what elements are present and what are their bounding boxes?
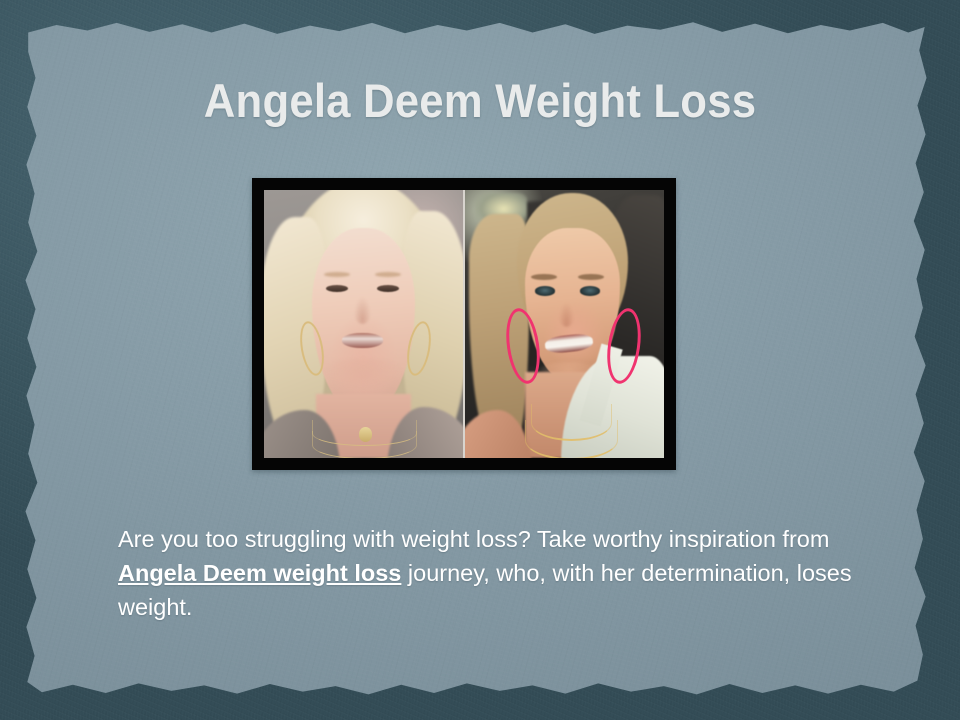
presentation-slide: Angela Deem Weight Loss [0, 0, 960, 720]
after-eye-right [580, 286, 600, 295]
photo-frame [252, 178, 676, 470]
slide-content: Angela Deem Weight Loss [0, 0, 960, 720]
before-photo [264, 190, 463, 458]
body-highlight-keyword: Angela Deem weight loss [118, 560, 401, 586]
after-eye-left [535, 286, 555, 295]
after-nose [559, 303, 575, 327]
before-eyebrow-left [324, 272, 350, 277]
body-paragraph: Are you too struggling with weight loss?… [118, 522, 878, 624]
before-eye-left [326, 285, 348, 292]
before-after-image [264, 190, 664, 458]
before-mouth [342, 333, 384, 348]
after-necklace-lower [525, 420, 619, 458]
before-pendant [359, 427, 373, 442]
body-lead-text: Are you too struggling with weight loss?… [118, 526, 829, 552]
after-photo [465, 190, 664, 458]
page-title: Angela Deem Weight Loss [34, 76, 927, 125]
